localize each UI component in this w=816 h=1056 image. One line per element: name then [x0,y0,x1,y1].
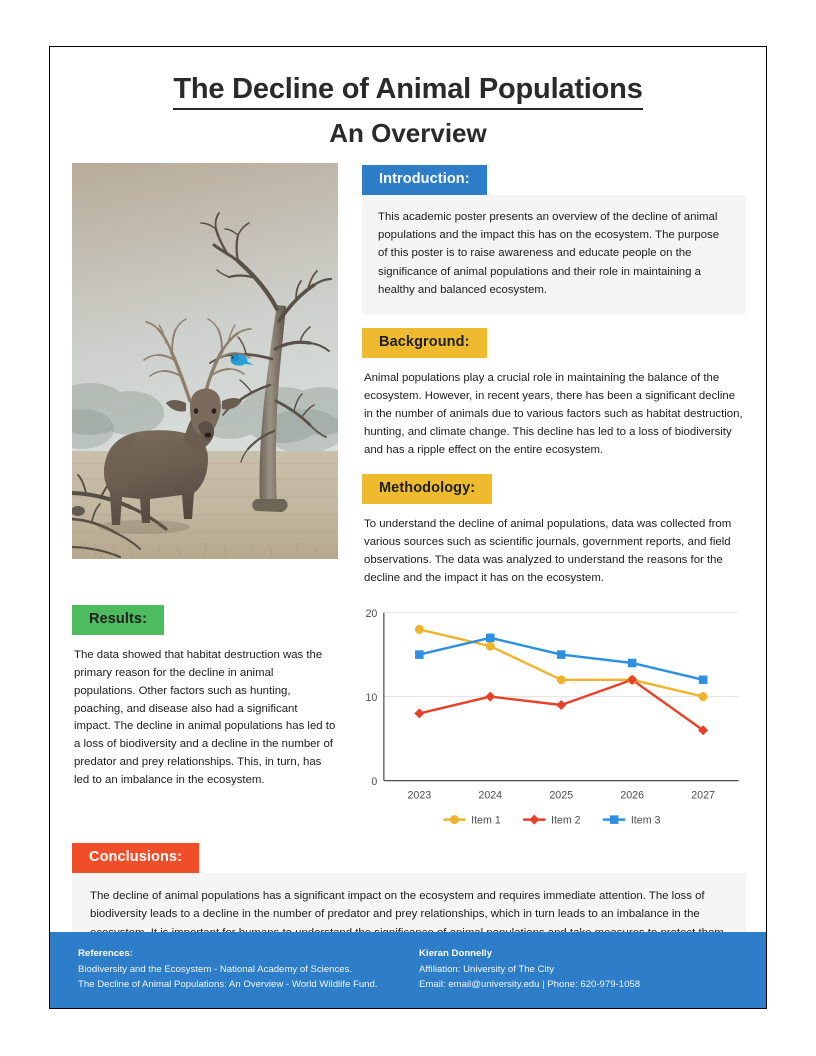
section-background: Background: Animal populations play a cr… [362,328,746,465]
chart-column: 0102020232024202520262027Item 1Item 2Ite… [356,605,746,835]
chart-data-point [699,676,708,685]
section-results: Results: The data showed that habitat de… [72,605,338,789]
chart-data-point [699,692,708,701]
author-contact: Email: email@university.edu | Phone: 620… [419,977,750,993]
chart-legend-marker [529,815,539,825]
chart-data-point [415,625,424,634]
chart-y-tick-label: 0 [371,776,377,788]
conclusions-heading: Conclusions: [72,843,199,873]
chart-data-point [415,650,424,659]
reference-item: Biodiversity and the Ecosystem - Nationa… [78,962,409,978]
methodology-heading: Methodology: [362,474,492,504]
footer-contact: Kieran Donnelly Affiliation: University … [409,946,750,1008]
chart-data-point [486,642,495,651]
spacer [362,314,746,328]
page-subtitle: An Overview [84,119,732,149]
chart-x-tick-label: 2024 [478,789,502,801]
page-title: The Decline of Animal Populations [173,73,642,110]
introduction-panel: This academic poster presents an overvie… [362,195,746,313]
introduction-heading: Introduction: [362,165,487,195]
reference-item: The Decline of Animal Populations: An Ov… [78,977,409,993]
deer-photo-illustration [72,163,338,559]
poster-frame: The Decline of Animal Populations An Ove… [49,46,767,1009]
chart-data-point [628,659,637,668]
results-body: The data showed that habitat destruction… [72,635,338,789]
poster-footer: References: Biodiversity and the Ecosyst… [50,932,766,1008]
right-column: Introduction: This academic poster prese… [362,163,746,593]
chart-x-tick-label: 2025 [549,789,573,801]
author-name: Kieran Donnelly [419,946,750,962]
section-methodology: Methodology: To understand the decline o… [362,474,746,593]
chart-data-point [557,675,566,684]
footer-references: References: Biodiversity and the Ecosyst… [78,946,409,1008]
results-heading: Results: [72,605,164,635]
chart-series-line [419,629,703,696]
population-line-chart: 0102020232024202520262027Item 1Item 2Ite… [356,607,746,835]
chart-y-tick-label: 10 [365,692,377,704]
chart-legend-label: Item 1 [471,815,501,827]
chart-x-tick-label: 2026 [620,789,644,801]
chart-x-tick-label: 2027 [691,789,715,801]
line-chart-svg: 0102020232024202520262027Item 1Item 2Ite… [356,607,746,835]
chart-legend-label: Item 3 [631,815,661,827]
introduction-body: This academic poster presents an overvie… [378,208,730,298]
background-heading: Background: [362,328,487,358]
author-affiliation: Affiliation: University of The City [419,962,750,978]
chart-data-point [556,700,566,710]
chart-data-point [486,634,495,643]
background-panel: Animal populations play a crucial role i… [362,358,746,465]
methodology-panel: To understand the decline of animal popu… [362,504,746,593]
chart-legend-marker [450,815,459,824]
chart-data-point [557,650,566,659]
mid-region: Results: The data showed that habitat de… [50,593,766,835]
chart-data-point [485,692,495,702]
poster-title-block: The Decline of Animal Populations An Ove… [50,47,766,163]
chart-legend-marker [610,815,619,824]
background-body: Animal populations play a crucial role i… [364,369,744,459]
chart-y-tick-label: 20 [365,608,377,620]
deer-photo [72,163,338,559]
spacer [362,465,746,474]
chart-data-point [414,709,424,719]
references-heading: References: [78,946,409,962]
section-introduction: Introduction: This academic poster prese… [362,165,746,313]
top-region: Introduction: This academic poster prese… [50,163,766,593]
chart-x-tick-label: 2023 [407,789,431,801]
chart-legend-label: Item 2 [551,815,581,827]
methodology-body: To understand the decline of animal popu… [364,515,744,587]
